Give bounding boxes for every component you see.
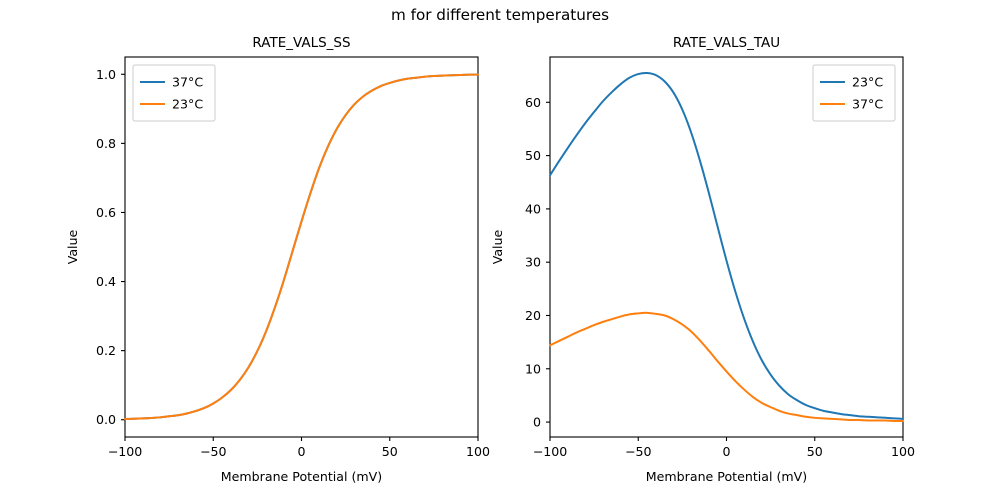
x-axis-label: Membrane Potential (mV) [646, 469, 807, 484]
y-axis-label: Value [65, 229, 80, 264]
x-tick-label: 50 [807, 444, 823, 459]
axes-title: RATE_VALS_TAU [673, 35, 780, 51]
x-tick-label: 0 [297, 444, 305, 459]
legend-label: 23°C [172, 97, 203, 112]
y-tick-label: 0.8 [96, 136, 116, 151]
y-tick-label: 40 [525, 201, 541, 216]
axes-title: RATE_VALS_SS [252, 35, 350, 51]
y-axis-label: Value [490, 229, 505, 264]
figure-suptitle: m for different temperatures [391, 6, 609, 24]
y-tick-label: 50 [525, 148, 541, 163]
axes-ss: −100−500501000.00.20.40.60.81.0Membrane … [65, 35, 490, 484]
x-tick-label: 50 [382, 444, 398, 459]
curve-37C [550, 313, 903, 421]
legend-box [133, 65, 215, 121]
legend-label: 37°C [852, 97, 883, 112]
y-tick-label: 1.0 [96, 67, 116, 82]
curve-37C [125, 75, 478, 419]
legend-label: 37°C [172, 75, 203, 90]
matplotlib-figure: m for different temperatures−100−5005010… [0, 0, 1000, 500]
x-tick-label: −50 [625, 444, 652, 459]
x-tick-label: −100 [533, 444, 568, 459]
y-tick-label: 30 [525, 255, 541, 270]
legend-label: 23°C [852, 75, 883, 90]
axes-tau: −100−500501000102030405060Membrane Poten… [490, 35, 915, 484]
y-tick-label: 0 [533, 415, 541, 430]
x-tick-label: 100 [891, 444, 915, 459]
y-tick-label: 60 [525, 95, 541, 110]
curve-23C [550, 73, 903, 419]
legend-box [813, 65, 895, 121]
x-tick-label: −100 [108, 444, 143, 459]
legend: 23°C37°C [813, 65, 895, 121]
legend: 37°C23°C [133, 65, 215, 121]
y-tick-label: 10 [525, 361, 541, 376]
x-tick-label: 0 [722, 444, 730, 459]
y-tick-label: 20 [525, 308, 541, 323]
y-tick-label: 0.6 [96, 205, 116, 220]
y-tick-label: 0.2 [96, 343, 116, 358]
x-axis-label: Membrane Potential (mV) [221, 469, 382, 484]
curve-23C [125, 75, 478, 419]
y-tick-label: 0.4 [96, 274, 116, 289]
figure-canvas: m for different temperatures−100−5005010… [0, 0, 1000, 500]
x-tick-label: 100 [466, 444, 490, 459]
y-tick-label: 0.0 [96, 412, 116, 427]
x-tick-label: −50 [200, 444, 227, 459]
